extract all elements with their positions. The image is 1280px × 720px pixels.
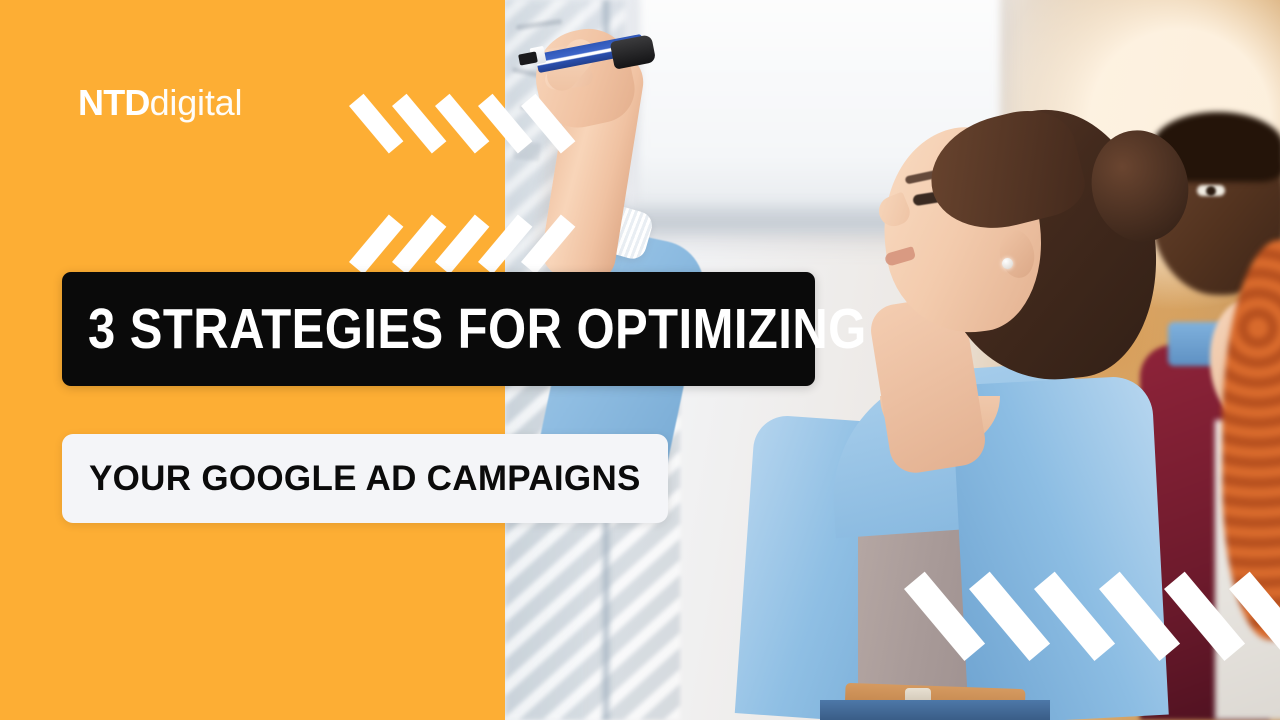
logo-secondary-text: digital [150,82,243,124]
chevron-right-icon [1225,586,1280,720]
marketing-banner: NTD digital [0,0,1280,720]
subtitle-text: YOUR GOOGLE AD CAMPAIGNS [89,459,641,499]
headline-text: 3 STRATEGIES FOR OPTIMIZING [88,296,867,362]
chevron-decoration-bottom [900,586,1280,720]
man-pupil [1206,186,1216,196]
earring [1002,258,1013,269]
logo-primary-text: NTD [78,82,150,124]
headline-banner: 3 STRATEGIES FOR OPTIMIZING [62,272,815,386]
chevron-decoration-top [346,104,546,204]
brand-logo[interactable]: NTD digital [78,82,242,124]
subtitle-banner: YOUR GOOGLE AD CAMPAIGNS [62,434,668,523]
chevron-right-icon [518,104,572,204]
